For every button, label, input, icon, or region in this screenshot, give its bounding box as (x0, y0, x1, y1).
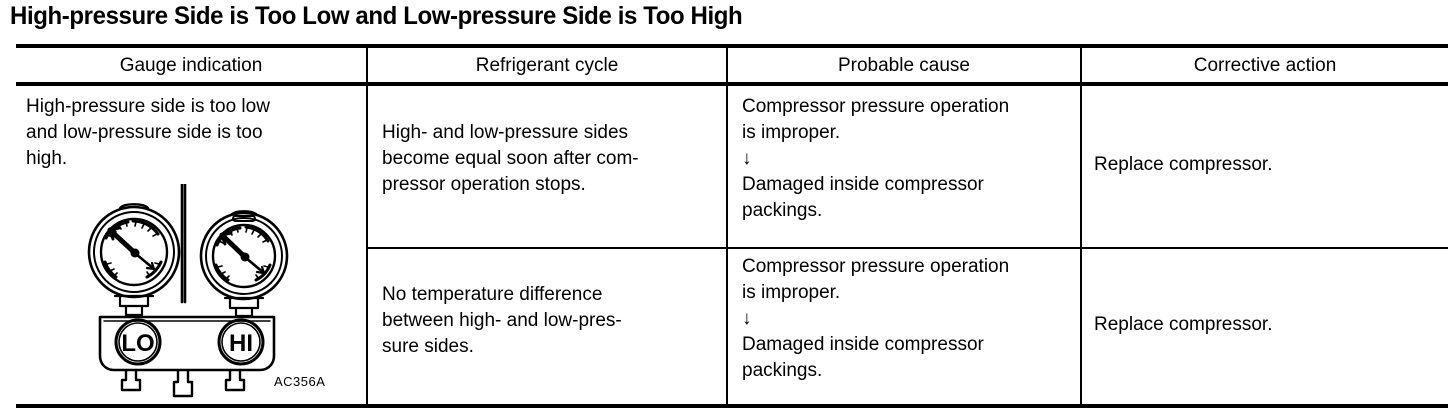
gauge-indication-line-2: and low-pressure side is too (26, 120, 356, 146)
column-divider-1 (366, 44, 368, 404)
high-pressure-gauge-icon (201, 211, 287, 299)
cell-gauge-indication-text: High-pressure side is too low and low-pr… (26, 94, 356, 172)
cell-probable-cause-row-2: Compressor pressure operation is imprope… (742, 254, 1072, 384)
low-pressure-gauge-icon (89, 204, 179, 297)
probable-cause-line: Damaged inside compressor (742, 172, 1072, 198)
column-divider-3 (1080, 44, 1082, 404)
down-arrow-icon: ↓ (742, 146, 1072, 172)
document-page: High-pressure Side is Too Low and Low-pr… (0, 0, 1456, 420)
column-divider-2 (726, 44, 728, 404)
high-gauge-stem-icon (225, 298, 263, 316)
table-row-divider (366, 247, 1448, 249)
low-gauge-stem-icon (115, 296, 153, 315)
table-header-border (16, 82, 1448, 86)
cell-corrective-action-row-1: Replace compressor. (1094, 152, 1444, 178)
probable-cause-line: packings. (742, 198, 1072, 224)
table-bottom-border (16, 404, 1448, 408)
cell-corrective-action-row-2: Replace compressor. (1094, 312, 1444, 338)
probable-cause-line: Compressor pressure operation (742, 94, 1072, 120)
probable-cause-line: Damaged inside compressor (742, 332, 1072, 358)
column-header-refrigerant-cycle: Refrigerant cycle (368, 52, 726, 80)
refrigerant-cycle-line: High- and low-pressure sides (382, 120, 716, 146)
column-header-probable-cause: Probable cause (728, 52, 1080, 80)
bottom-fittings-icon (122, 370, 244, 396)
illustration-code: AC356A (274, 374, 325, 389)
refrigerant-cycle-line: between high- and low-pres- (382, 308, 716, 334)
cell-probable-cause-row-1: Compressor pressure operation is imprope… (742, 94, 1072, 224)
refrigerant-cycle-line: No temperature difference (382, 282, 716, 308)
probable-cause-line: is improper. (742, 120, 1072, 146)
down-arrow-icon: ↓ (742, 306, 1072, 332)
refrigerant-cycle-line: pressor operation stops. (382, 172, 716, 198)
page-title: High-pressure Side is Too Low and Low-pr… (10, 2, 742, 31)
manifold-gauge-svg: LO HI (78, 184, 348, 399)
refrigerant-cycle-line: sure sides. (382, 334, 716, 360)
cell-refrigerant-cycle-row-2: No temperature difference between high- … (382, 282, 716, 360)
hi-port-label: HI (229, 330, 253, 357)
manifold-gauge-set-illustration: LO HI (78, 184, 348, 399)
probable-cause-line: is improper. (742, 280, 1072, 306)
cell-refrigerant-cycle-row-1: High- and low-pressure sides become equa… (382, 120, 716, 198)
lo-port-label: LO (121, 330, 154, 357)
column-header-corrective-action: Corrective action (1082, 52, 1448, 80)
refrigerant-cycle-line: become equal soon after com- (382, 146, 716, 172)
probable-cause-line: Compressor pressure operation (742, 254, 1072, 280)
diagnostic-table: Gauge indication Refrigerant cycle Proba… (16, 44, 1448, 408)
gauge-indication-line-3: high. (26, 146, 356, 172)
column-header-gauge-indication: Gauge indication (16, 52, 366, 80)
probable-cause-line: packings. (742, 358, 1072, 384)
table-top-border (16, 44, 1448, 48)
gauge-indication-line-1: High-pressure side is too low (26, 94, 356, 120)
